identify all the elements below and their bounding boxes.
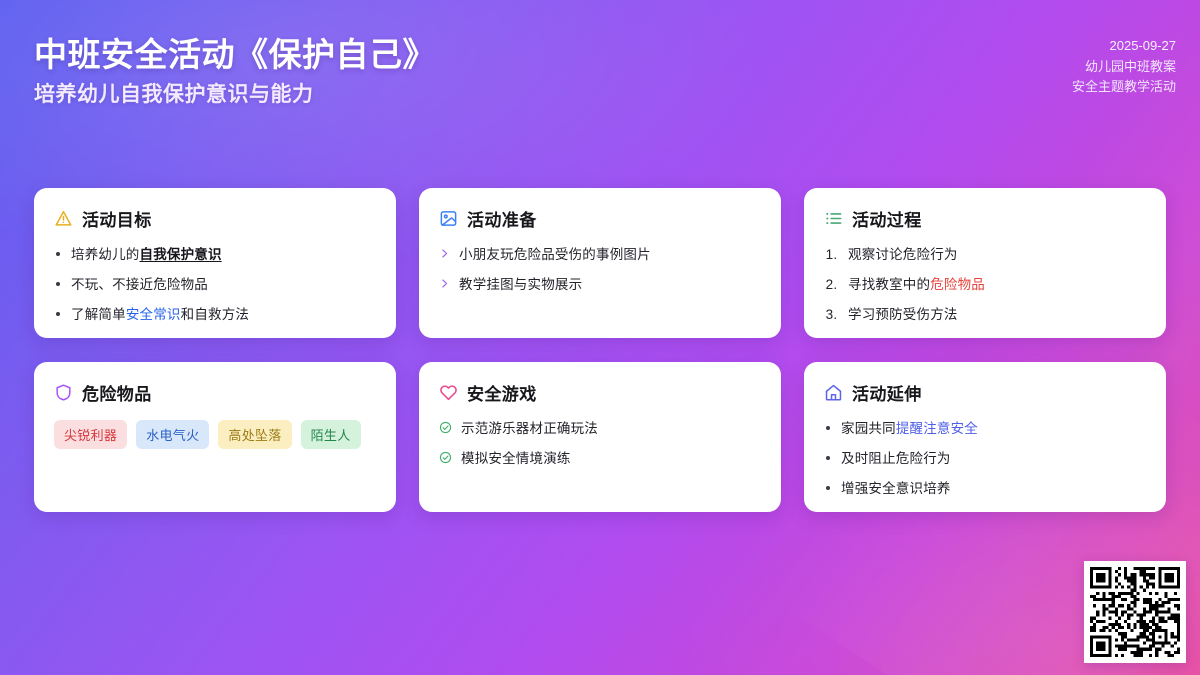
- card-grid: 活动目标培养幼儿的自我保护意识不玩、不接近危险物品了解简单安全常识和自救方法活动…: [34, 188, 1166, 512]
- card-header: 活动过程: [824, 206, 1146, 231]
- list-item-content: 及时阻止危险行为: [841, 450, 951, 468]
- list-item: 增强安全意识培养: [824, 480, 1146, 498]
- list-item: 不玩、不接近危险物品: [54, 276, 376, 294]
- list-item: 家园共同提醒注意安全: [824, 420, 1146, 438]
- list-item-text: 培养幼儿的: [71, 247, 140, 262]
- card-list: 1.观察讨论危险行为2.寻找教室中的危险物品3.学习预防受伤方法: [824, 246, 1146, 325]
- qr-code-container[interactable]: [1084, 561, 1186, 663]
- chevron-right-icon: [439, 276, 450, 289]
- tag-item[interactable]: 陌生人: [301, 420, 361, 449]
- card-title: 安全游戏: [467, 380, 537, 405]
- list-item: 示范游乐器材正确玩法: [439, 420, 761, 438]
- list-item-content: 增强安全意识培养: [841, 480, 951, 498]
- list-item-text: 学习预防受伤方法: [848, 307, 958, 322]
- list-number: 1.: [824, 246, 839, 264]
- list-item-content: 培养幼儿的自我保护意识: [71, 246, 222, 264]
- shield-icon: [54, 383, 73, 402]
- list-item: 2.寻找教室中的危险物品: [824, 276, 1146, 294]
- warning-triangle-icon: [54, 209, 73, 228]
- card-activity-extension: 活动延伸家园共同提醒注意安全及时阻止危险行为增强安全意识培养: [804, 362, 1166, 512]
- card-activity-process: 活动过程1.观察讨论危险行为2.寻找教室中的危险物品3.学习预防受伤方法: [804, 188, 1166, 338]
- card-list: 家园共同提醒注意安全及时阻止危险行为增强安全意识培养: [824, 420, 1146, 499]
- bullet-marker: [54, 246, 62, 256]
- list-item-highlight: 危险物品: [930, 277, 985, 292]
- list-item-text: 模拟安全情境演练: [461, 451, 571, 466]
- list-item: 模拟安全情境演练: [439, 450, 761, 468]
- tag-item[interactable]: 尖锐利器: [54, 420, 127, 449]
- list-item-content: 示范游乐器材正确玩法: [461, 420, 598, 438]
- list-item-text: 示范游乐器材正确玩法: [461, 421, 598, 436]
- meta-category: 幼儿园中班教案: [1072, 57, 1176, 78]
- card-header: 活动延伸: [824, 380, 1146, 405]
- list-item-text: 观察讨论危险行为: [848, 247, 958, 262]
- bullet-marker: [54, 276, 62, 286]
- list-item: 小朋友玩危险品受伤的事例图片: [439, 246, 761, 264]
- card-dangerous-items: 危险物品尖锐利器水电气火高处坠落陌生人: [34, 362, 396, 512]
- list-item-text: 家园共同: [841, 421, 896, 436]
- card-title: 危险物品: [82, 380, 152, 405]
- header: 中班安全活动《保护自己》 培养幼儿自我保护意识与能力 2025-09-27 幼儿…: [0, 0, 1200, 150]
- meta-theme: 安全主题教学活动: [1072, 77, 1176, 98]
- check-circle-icon: [439, 450, 452, 464]
- bullet-marker: [824, 480, 832, 490]
- bullet-marker: [824, 450, 832, 460]
- list-item-content: 教学挂图与实物展示: [459, 276, 582, 294]
- list-item-content: 家园共同提醒注意安全: [841, 420, 978, 438]
- card-title: 活动目标: [82, 206, 152, 231]
- list-item-content: 了解简单安全常识和自救方法: [71, 306, 249, 324]
- list-item-content: 小朋友玩危险品受伤的事例图片: [459, 246, 651, 264]
- tag-item[interactable]: 高处坠落: [218, 420, 291, 449]
- home-icon: [824, 383, 843, 402]
- list-icon: [824, 209, 843, 228]
- card-header: 危险物品: [54, 380, 376, 405]
- list-item-content: 模拟安全情境演练: [461, 450, 571, 468]
- card-list: 示范游乐器材正确玩法模拟安全情境演练: [439, 420, 761, 468]
- card-title: 活动延伸: [852, 380, 922, 405]
- list-item-text: 教学挂图与实物展示: [459, 277, 582, 292]
- list-item: 了解简单安全常识和自救方法: [54, 306, 376, 324]
- list-item-text: 增强安全意识培养: [841, 481, 951, 496]
- card-title: 活动准备: [467, 206, 537, 231]
- list-item-text: 寻找教室中的: [848, 277, 930, 292]
- card-header: 活动目标: [54, 206, 376, 231]
- list-item-text: 不玩、不接近危险物品: [71, 277, 208, 292]
- list-item-text: 小朋友玩危险品受伤的事例图片: [459, 247, 651, 262]
- header-meta: 2025-09-27 幼儿园中班教案 安全主题教学活动: [1072, 36, 1176, 98]
- card-title: 活动过程: [852, 206, 922, 231]
- list-item-content: 寻找教室中的危险物品: [848, 276, 985, 294]
- meta-date: 2025-09-27: [1072, 36, 1176, 57]
- list-item-highlight: 自我保护意识: [140, 247, 222, 262]
- heart-icon: [439, 383, 458, 402]
- tag-list: 尖锐利器水电气火高处坠落陌生人: [54, 420, 376, 449]
- card-header: 安全游戏: [439, 380, 761, 405]
- card-activity-goals: 活动目标培养幼儿的自我保护意识不玩、不接近危险物品了解简单安全常识和自救方法: [34, 188, 396, 338]
- tag-item[interactable]: 水电气火: [136, 420, 209, 449]
- card-header: 活动准备: [439, 206, 761, 231]
- list-number: 2.: [824, 276, 839, 294]
- card-list: 小朋友玩危险品受伤的事例图片教学挂图与实物展示: [439, 246, 761, 294]
- list-item: 教学挂图与实物展示: [439, 276, 761, 294]
- card-list: 培养幼儿的自我保护意识不玩、不接近危险物品了解简单安全常识和自救方法: [54, 246, 376, 325]
- qr-code: [1090, 567, 1180, 657]
- list-item: 3.学习预防受伤方法: [824, 306, 1146, 324]
- check-circle-icon: [439, 420, 452, 434]
- list-item-text: 和自救方法: [181, 307, 250, 322]
- list-item-text: 了解简单: [71, 307, 126, 322]
- image-icon: [439, 209, 458, 228]
- list-item: 培养幼儿的自我保护意识: [54, 246, 376, 264]
- card-safety-games: 安全游戏示范游乐器材正确玩法模拟安全情境演练: [419, 362, 781, 512]
- page-title: 中班安全活动《保护自己》: [34, 28, 436, 76]
- bullet-marker: [824, 420, 832, 430]
- list-item-highlight: 提醒注意安全: [896, 421, 978, 436]
- page-subtitle: 培养幼儿自我保护意识与能力: [34, 78, 314, 108]
- bullet-marker: [54, 306, 62, 316]
- list-item-text: 及时阻止危险行为: [841, 451, 951, 466]
- list-item-highlight: 安全常识: [126, 307, 181, 322]
- list-item-content: 学习预防受伤方法: [848, 306, 958, 324]
- list-item-content: 不玩、不接近危险物品: [71, 276, 208, 294]
- list-item: 及时阻止危险行为: [824, 450, 1146, 468]
- card-activity-preparation: 活动准备小朋友玩危险品受伤的事例图片教学挂图与实物展示: [419, 188, 781, 338]
- list-number: 3.: [824, 306, 839, 324]
- chevron-right-icon: [439, 246, 450, 259]
- list-item: 1.观察讨论危险行为: [824, 246, 1146, 264]
- list-item-content: 观察讨论危险行为: [848, 246, 958, 264]
